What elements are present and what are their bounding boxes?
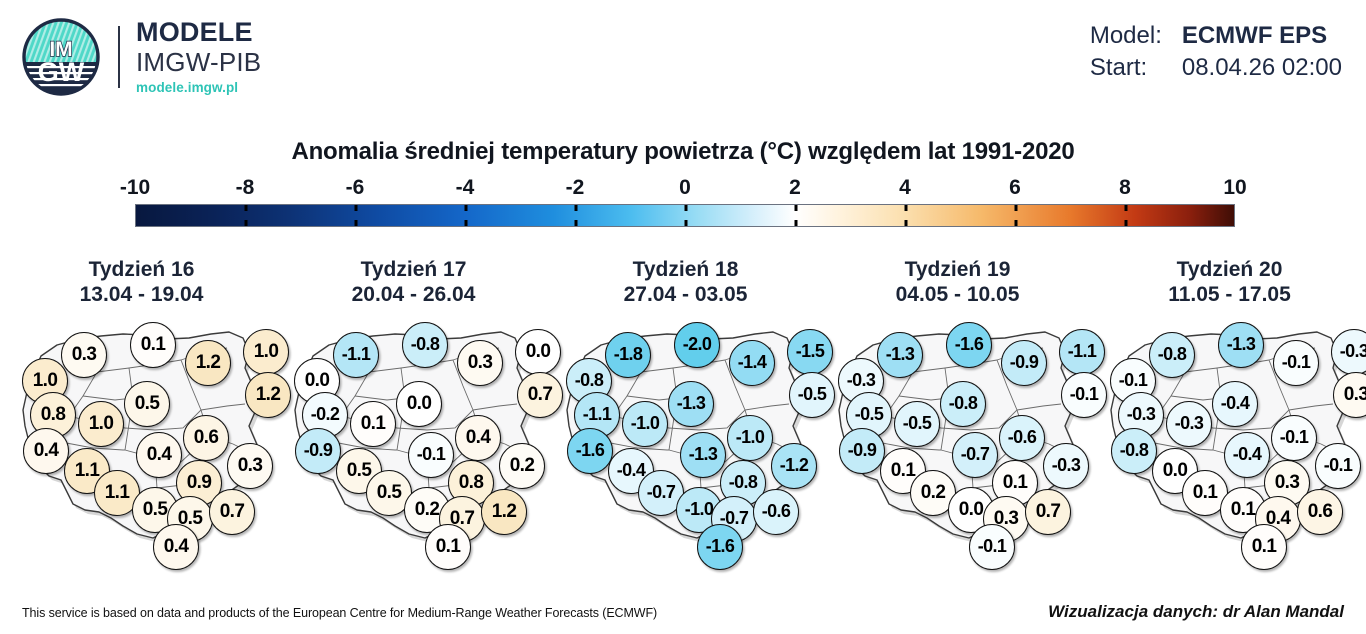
colorbar-tick-6: 6: [1009, 176, 1021, 200]
panel-title: Tydzień 1720.04 - 26.04: [277, 258, 550, 308]
poland-map: 0.30.11.21.01.01.20.50.81.00.40.61.10.40…: [5, 312, 278, 584]
anomaly-bubble: -0.6: [753, 489, 799, 535]
anomaly-bubble: -1.6: [567, 428, 613, 474]
anomaly-bubble: 1.0: [78, 401, 124, 447]
colorbar-tick-neg4: -4: [456, 176, 475, 200]
colorbar-tick-8: 8: [1119, 176, 1131, 200]
colorbar-gradient: [135, 204, 1235, 227]
start-value: 08.04.26 02:00: [1182, 54, 1342, 82]
logo-url[interactable]: modele.imgw.pl: [136, 81, 261, 95]
anomaly-bubble: 0.0: [396, 381, 442, 427]
colorbar-tickmark: [575, 220, 578, 226]
logo-title: MODELE: [136, 19, 261, 46]
anomaly-bubble: -1.4: [729, 340, 775, 386]
start-row: Start: 08.04.26 02:00: [1090, 54, 1342, 82]
anomaly-bubble: 0.4: [153, 524, 199, 570]
anomaly-bubble: 0.4: [23, 428, 69, 474]
colorbar-tickmark: [245, 220, 248, 226]
attribution-ecmwf: This service is based on data and produc…: [22, 606, 657, 620]
panel-title: Tydzień 1613.04 - 19.04: [5, 258, 278, 308]
panel-title: Tydzień 1904.05 - 10.05: [821, 258, 1094, 308]
imgw-logo-icon: IM GW: [22, 18, 100, 96]
model-value: ECMWF EPS: [1182, 22, 1327, 50]
anomaly-bubble: -0.3: [1331, 329, 1366, 375]
anomaly-bubble: -0.7: [952, 432, 998, 478]
anomaly-bubble: 0.5: [124, 381, 170, 427]
colorbar-tickmark: [355, 220, 358, 226]
anomaly-bubble: 0.7: [209, 489, 255, 535]
anomaly-bubble: 1.2: [481, 489, 527, 535]
colorbar-tick-labels: -10-8-6-4-20246810: [135, 176, 1235, 204]
weekly-map-panels: Tydzień 1613.04 - 19.040.30.11.21.01.01.…: [0, 258, 1366, 598]
anomaly-bubble: -1.2: [771, 443, 817, 489]
colorbar-tickmark: [575, 205, 578, 211]
panel-date-range: 13.04 - 19.04: [5, 283, 278, 308]
anomaly-bubble: -0.1: [1273, 340, 1319, 386]
colorbar-tick-0: 0: [679, 176, 691, 200]
colorbar-tick-neg10: -10: [120, 176, 150, 200]
anomaly-bubble: 0.4: [455, 415, 501, 461]
poland-map: -0.8-1.3-0.1-0.3-0.10.3-0.4-0.3-0.3-0.8-…: [1093, 312, 1366, 584]
anomaly-bubble: -1.3: [680, 432, 726, 478]
page-header: IM GW MODELE IMGW-PIB modele.imgw.pl Mod…: [0, 0, 1366, 118]
anomaly-bubble: -0.9: [839, 428, 885, 474]
anomaly-bubble: -1.3: [1218, 322, 1264, 368]
anomaly-bubble: -0.8: [1111, 428, 1157, 474]
svg-text:GW: GW: [38, 57, 85, 87]
colorbar-tickmark: [685, 220, 688, 226]
anomaly-bubble: -1.6: [946, 322, 992, 368]
model-label: Model:: [1090, 22, 1182, 50]
panel-date-range: 27.04 - 03.05: [549, 283, 822, 308]
colorbar-tick-4: 4: [899, 176, 911, 200]
colorbar-title: Anomalia średniej temperatury powietrza …: [0, 138, 1366, 166]
anomaly-bubble: -0.8: [940, 381, 986, 427]
colorbar-tickmark: [1015, 205, 1018, 211]
anomaly-bubble: -0.8: [402, 322, 448, 368]
anomaly-bubble: -0.4: [1212, 381, 1258, 427]
anomaly-bubble: 0.3: [227, 443, 273, 489]
map-panel-week-18: Tydzień 1827.04 - 03.05-1.8-2.0-1.4-1.5-…: [549, 258, 822, 598]
poland-map: -1.8-2.0-1.4-1.5-0.8-0.5-1.3-1.1-1.0-1.6…: [549, 312, 822, 584]
colorbar-tickmark: [905, 220, 908, 226]
logo-divider: [118, 26, 120, 88]
colorbar-tickmark: [465, 205, 468, 211]
panel-week-label: Tydzień 17: [361, 258, 467, 281]
colorbar-tickmark: [1015, 220, 1018, 226]
anomaly-bubble: 0.7: [1025, 489, 1071, 535]
colorbar-tickmark: [245, 205, 248, 211]
map-panel-week-16: Tydzień 1613.04 - 19.040.30.11.21.01.01.…: [5, 258, 278, 598]
anomaly-bubble: -0.6: [999, 415, 1045, 461]
model-metadata: Model: ECMWF EPS Start: 08.04.26 02:00: [1090, 22, 1342, 86]
anomaly-bubble: 1.2: [185, 340, 231, 386]
anomaly-bubble: -1.3: [668, 381, 714, 427]
poland-map: -1.3-1.6-0.9-1.1-0.3-0.1-0.8-0.5-0.5-0.9…: [821, 312, 1094, 584]
colorbar-tickmark: [355, 205, 358, 211]
anomaly-bubble: 0.3: [457, 340, 503, 386]
anomaly-bubble: -2.0: [674, 322, 720, 368]
panel-date-range: 04.05 - 10.05: [821, 283, 1094, 308]
colorbar: -10-8-6-4-20246810: [135, 176, 1235, 227]
anomaly-bubble: -0.8: [1149, 332, 1195, 378]
panel-week-label: Tydzień 18: [633, 258, 739, 281]
forecast-page: IM GW MODELE IMGW-PIB modele.imgw.pl Mod…: [0, 0, 1366, 634]
colorbar-tickmark: [1125, 220, 1128, 226]
anomaly-bubble: -0.5: [894, 401, 940, 447]
panel-week-label: Tydzień 20: [1177, 258, 1283, 281]
colorbar-tickmark: [795, 220, 798, 226]
anomaly-bubble: 0.1: [350, 401, 396, 447]
anomaly-bubble: 0.1: [130, 322, 176, 368]
panel-title: Tydzień 1827.04 - 03.05: [549, 258, 822, 308]
colorbar-tick-neg6: -6: [346, 176, 365, 200]
panel-date-range: 11.05 - 17.05: [1093, 283, 1366, 308]
model-row: Model: ECMWF EPS: [1090, 22, 1342, 50]
anomaly-bubble: 0.4: [136, 432, 182, 478]
anomaly-bubble: -1.3: [877, 332, 923, 378]
colorbar-tick-neg2: -2: [566, 176, 585, 200]
colorbar-tick-2: 2: [789, 176, 801, 200]
anomaly-bubble: -0.1: [408, 432, 454, 478]
anomaly-bubble: -0.1: [1315, 443, 1361, 489]
anomaly-bubble: 0.1: [1241, 524, 1287, 570]
colorbar-tick-10: 10: [1223, 176, 1246, 200]
anomaly-bubble: -1.0: [727, 415, 773, 461]
anomaly-bubble: -1.6: [697, 524, 743, 570]
logo-subtitle: IMGW-PIB: [136, 49, 261, 75]
anomaly-bubble: 0.3: [61, 332, 107, 378]
attribution-author: Wizualizacja danych: dr Alan Mandal: [1048, 602, 1344, 622]
anomaly-bubble: -0.9: [1001, 340, 1047, 386]
anomaly-bubble: -1.1: [333, 332, 379, 378]
colorbar-tickmark: [465, 220, 468, 226]
imgw-logo: IM GW MODELE IMGW-PIB modele.imgw.pl: [22, 18, 261, 96]
map-panel-week-17: Tydzień 1720.04 - 26.04-1.1-0.80.30.00.0…: [277, 258, 550, 598]
colorbar-tickmark: [685, 205, 688, 211]
anomaly-bubble: -0.1: [1271, 415, 1317, 461]
anomaly-bubble: -0.1: [969, 524, 1015, 570]
anomaly-bubble: -1.0: [622, 401, 668, 447]
anomaly-bubble: 0.2: [499, 443, 545, 489]
anomaly-bubble: -0.3: [1166, 401, 1212, 447]
map-panel-week-19: Tydzień 1904.05 - 10.05-1.3-1.6-0.9-1.1-…: [821, 258, 1094, 598]
anomaly-bubble: 0.6: [183, 415, 229, 461]
start-label: Start:: [1090, 54, 1182, 82]
panel-week-label: Tydzień 19: [905, 258, 1011, 281]
panel-date-range: 20.04 - 26.04: [277, 283, 550, 308]
anomaly-bubble: -1.8: [605, 332, 651, 378]
anomaly-bubble: 0.1: [425, 524, 471, 570]
panel-week-label: Tydzień 16: [89, 258, 195, 281]
anomaly-bubble: 0.6: [1297, 489, 1343, 535]
anomaly-bubble: -0.4: [1224, 432, 1270, 478]
anomaly-bubble: -0.3: [1043, 443, 1089, 489]
colorbar-tickmark: [795, 205, 798, 211]
anomaly-bubble: -0.9: [295, 428, 341, 474]
poland-map: -1.1-0.80.30.00.00.70.0-0.20.1-0.90.40.5…: [277, 312, 550, 584]
map-panel-week-20: Tydzień 2011.05 - 17.05-0.8-1.3-0.1-0.3-…: [1093, 258, 1366, 598]
colorbar-tick-neg8: -8: [236, 176, 255, 200]
colorbar-tickmark: [1125, 205, 1128, 211]
panel-title: Tydzień 2011.05 - 17.05: [1093, 258, 1366, 308]
colorbar-tickmark: [905, 205, 908, 211]
